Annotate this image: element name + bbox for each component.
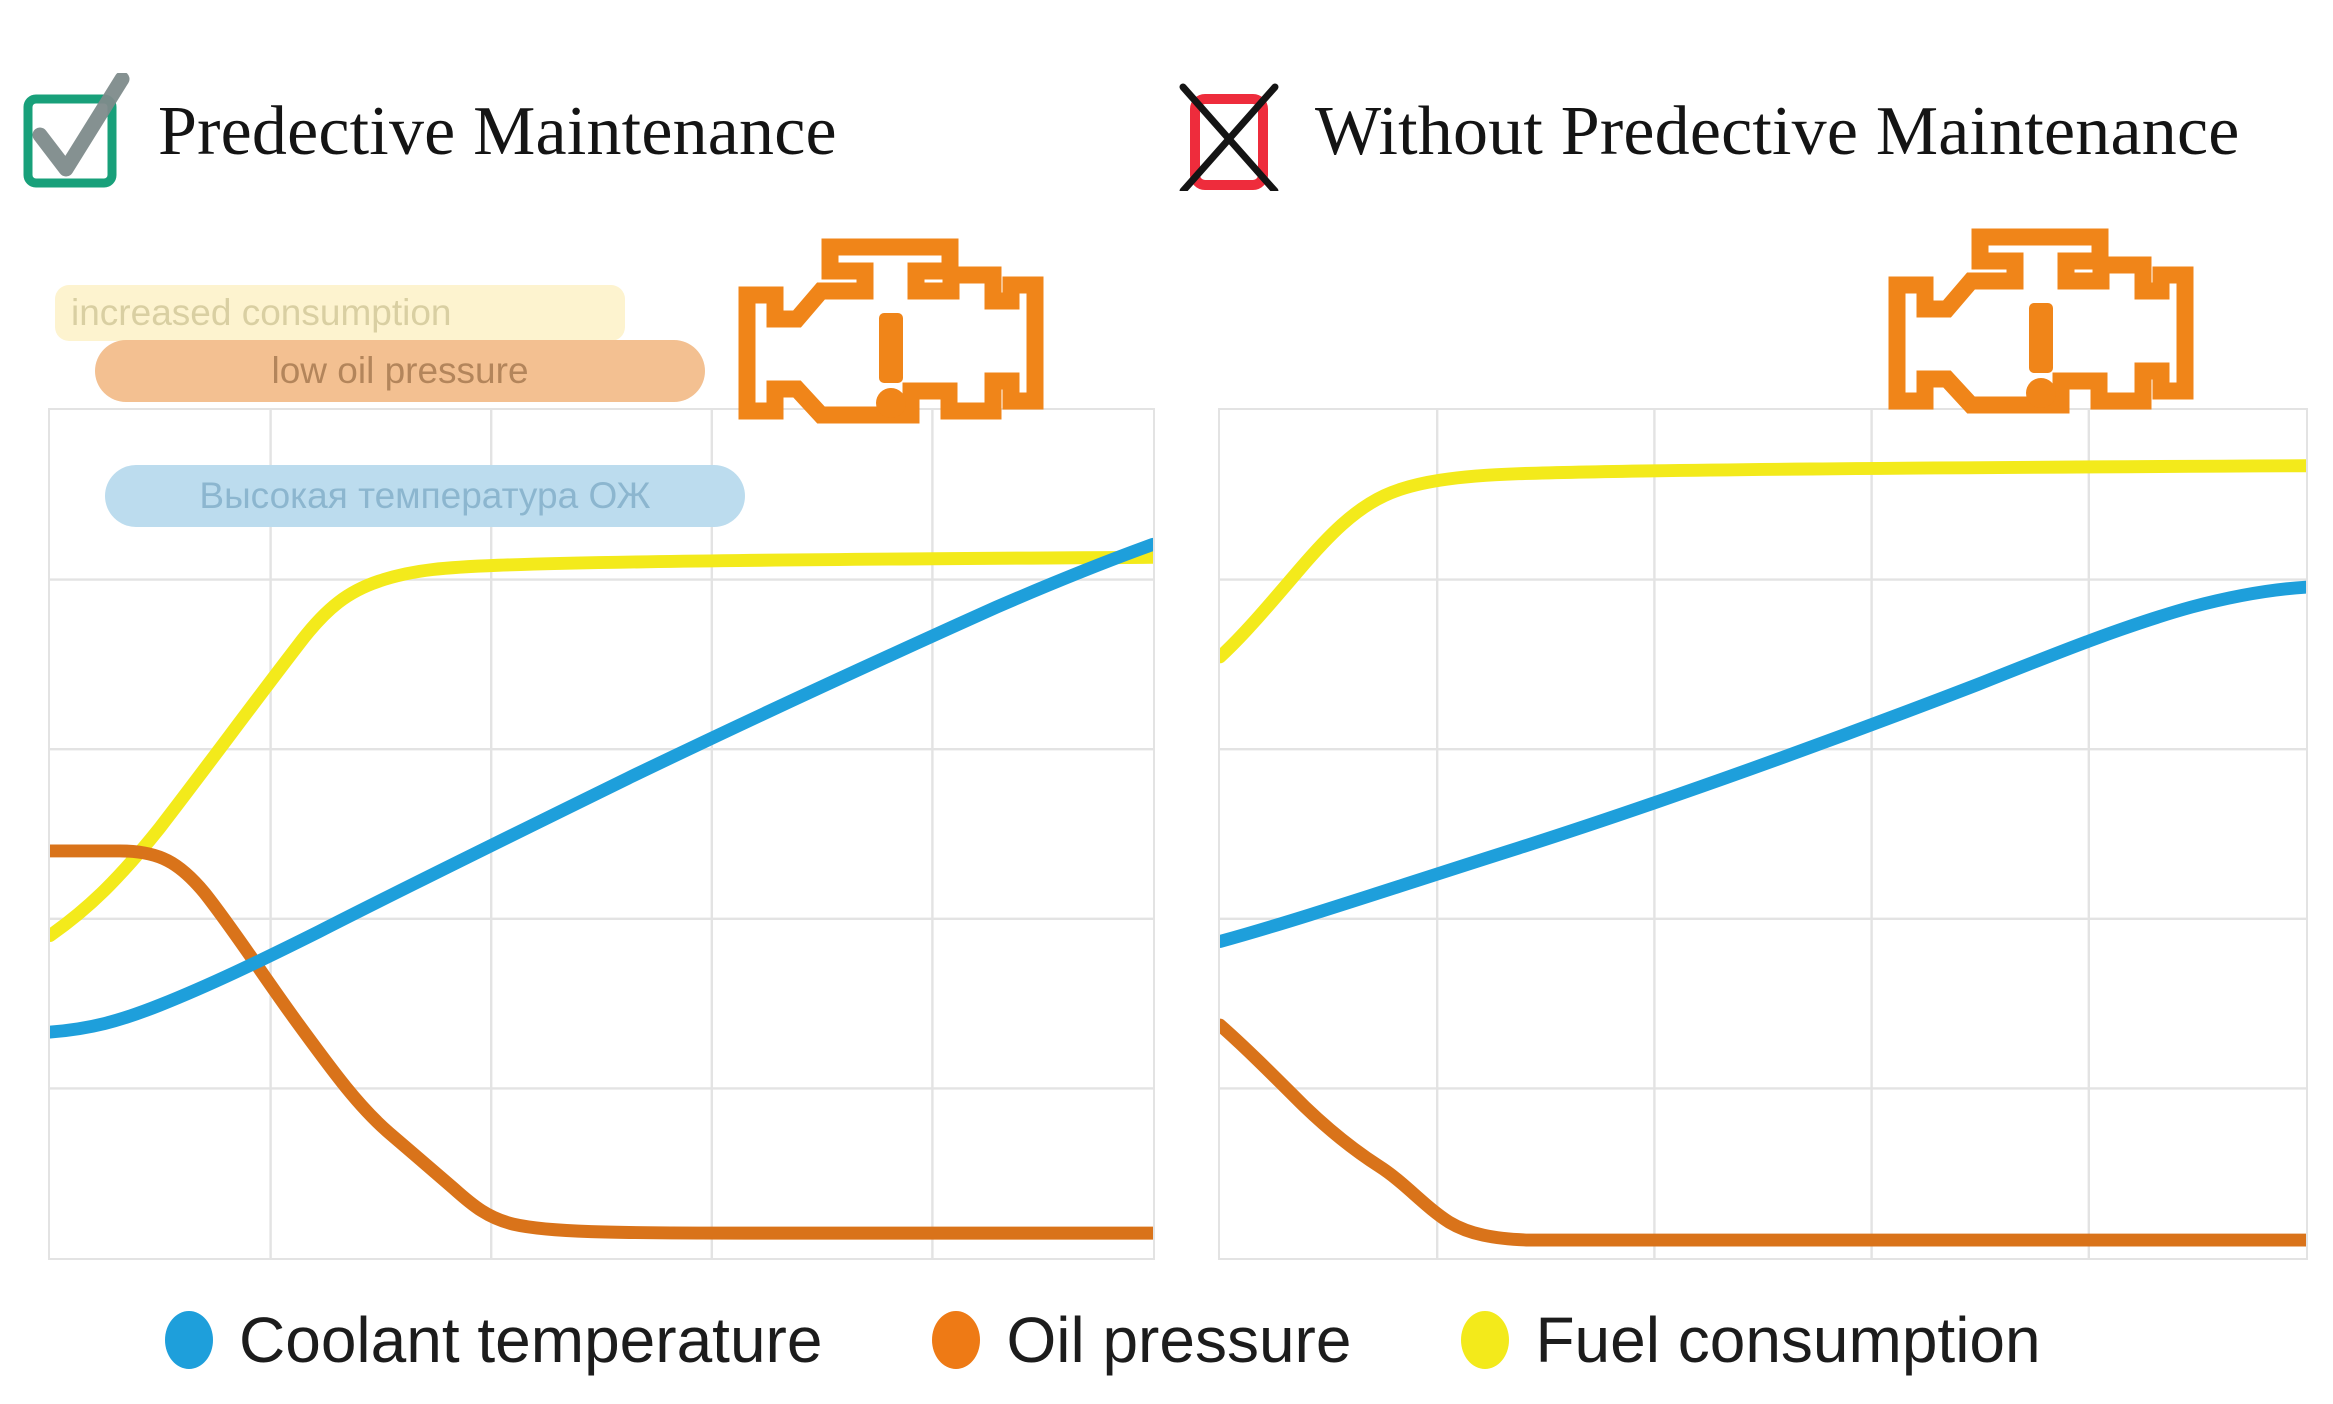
legend-label: Oil pressure <box>1006 1303 1351 1377</box>
charts-container <box>0 0 2333 1404</box>
legend-label: Coolant temperature <box>239 1303 822 1377</box>
grid-lines <box>50 410 1153 1258</box>
legend-label: Fuel consumption <box>1535 1303 2040 1377</box>
plot-area-predictive <box>48 408 1155 1260</box>
series-line-coolant-temperature <box>50 544 1153 1032</box>
legend-color-swatch-icon <box>1461 1311 1509 1369</box>
series-line-oil-pressure <box>1220 1025 2306 1240</box>
chart-panel-without-predictive <box>1218 408 2308 1260</box>
grid-lines <box>1220 410 2306 1258</box>
chart-panel-predictive <box>48 408 1155 1260</box>
series-line-oil-pressure <box>50 851 1153 1233</box>
annotation-increased-consumption: increased consumption <box>55 285 625 341</box>
check-engine-icon <box>735 225 1047 455</box>
annotation-low-oil-pressure: low oil pressure <box>95 340 705 402</box>
annotation-high-coolant-temperature: Высокая температура ОЖ <box>105 465 745 527</box>
legend-color-swatch-icon <box>932 1311 980 1369</box>
legend-item-fuel-consumption: Fuel consumption <box>1461 1303 2040 1377</box>
plot-area-without-predictive <box>1218 408 2308 1260</box>
series-line-coolant-temperature <box>1220 587 2306 941</box>
legend-item-coolant-temperature: Coolant temperature <box>165 1303 822 1377</box>
legend-color-swatch-icon <box>165 1311 213 1369</box>
check-engine-icon <box>1885 215 2197 445</box>
chart-legend: Coolant temperature Oil pressure Fuel co… <box>0 1290 2333 1390</box>
legend-item-oil-pressure: Oil pressure <box>932 1303 1351 1377</box>
